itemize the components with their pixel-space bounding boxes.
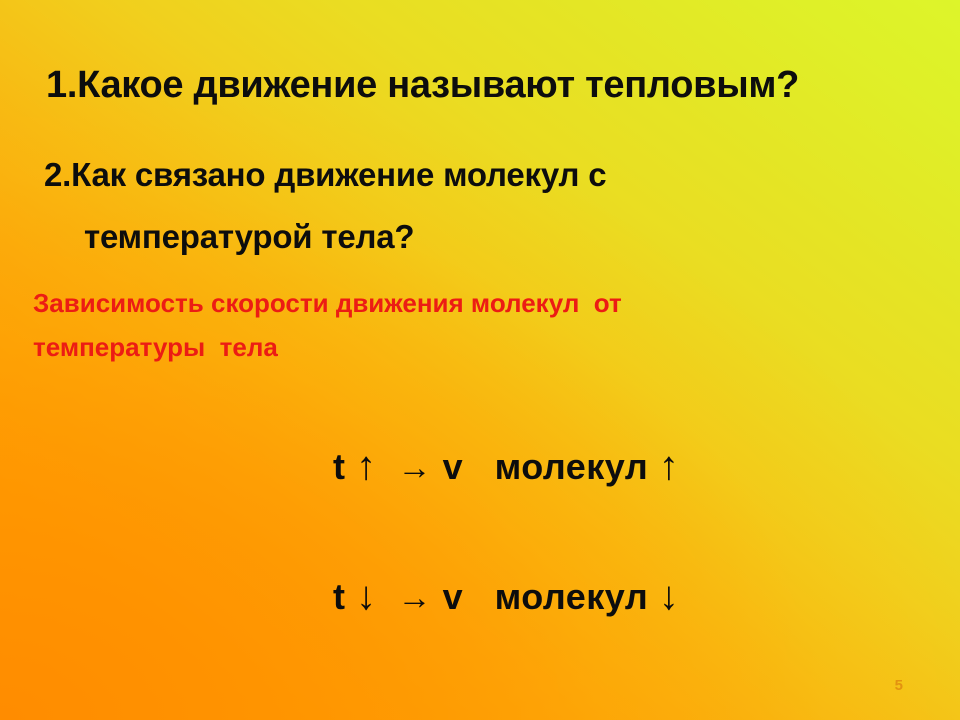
arrow-right-icon: → xyxy=(398,449,433,487)
arrow-up-icon: ↑ xyxy=(356,444,377,488)
formula-label-molecules: молекул xyxy=(495,446,649,487)
formula-symbol-t: t xyxy=(333,576,346,617)
arrow-down-icon: ↓ xyxy=(356,574,377,618)
slide-content: 1.Какое движение называют тепловым? 2.Ка… xyxy=(0,0,960,720)
question-2-line-2: температурой тела? xyxy=(84,218,414,256)
question-1-text: 1.Какое движение называют тепловым? xyxy=(46,64,799,107)
presentation-slide: 1.Какое движение называют тепловым? 2.Ка… xyxy=(0,0,960,720)
formula-symbol-v: v xyxy=(443,576,464,617)
arrow-up-icon: ↑ xyxy=(659,444,680,488)
formula-symbol-t: t xyxy=(333,446,346,487)
formula-temperature-decrease: t ↓ → v молекул ↓ xyxy=(270,534,679,660)
question-2-line-1: 2.Как связано движение молекул с xyxy=(44,156,606,194)
arrow-right-icon: → xyxy=(398,579,433,617)
formula-temperature-increase: t ↑ → v молекул ↑ xyxy=(270,404,679,530)
formula-label-molecules: молекул xyxy=(495,576,649,617)
relationship-statement-line-1: Зависимость скорости движения молекул от xyxy=(33,288,622,319)
arrow-down-icon: ↓ xyxy=(659,574,680,618)
slide-number: 5 xyxy=(895,677,903,694)
formula-symbol-v: v xyxy=(443,446,464,487)
relationship-statement-line-2: температуры тела xyxy=(33,332,278,363)
